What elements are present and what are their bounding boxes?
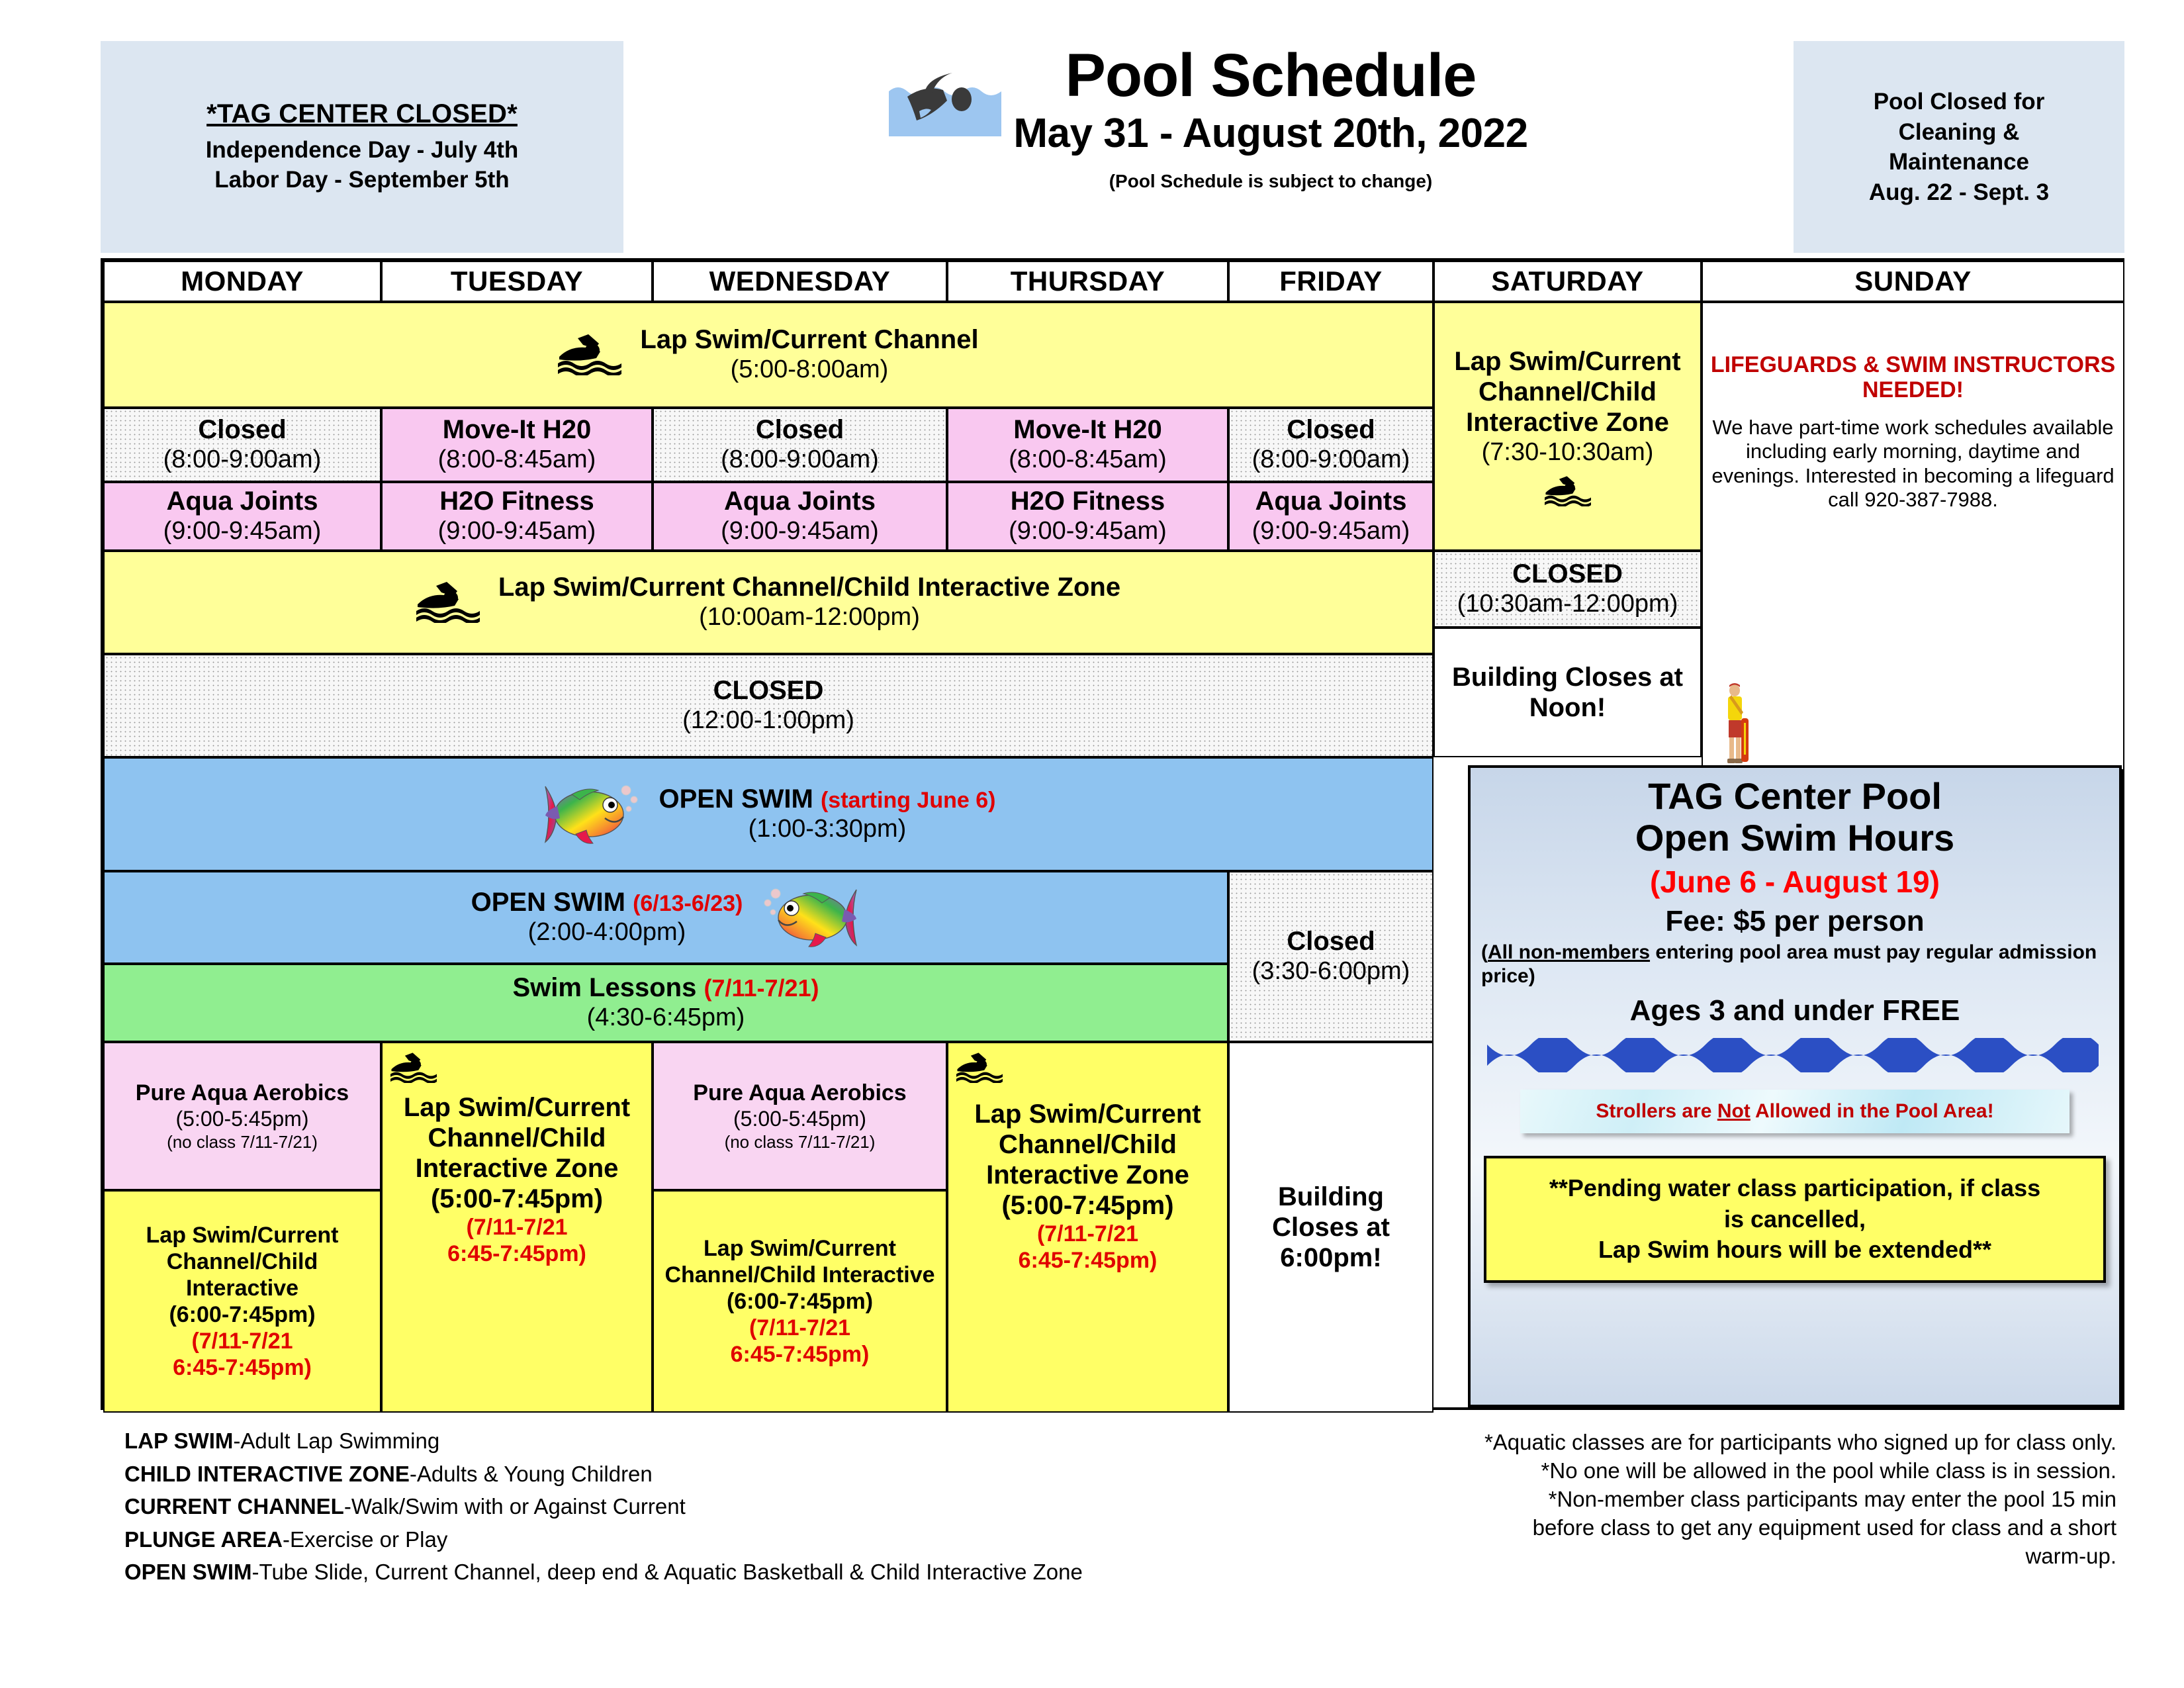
slot-mon-8am-time: (8:00-9:00am): [163, 445, 322, 475]
slot-open-swim-2: OPEN SWIM (6/13-6/23) (2:00-4:00pm): [103, 871, 1228, 964]
slot-open-swim-1-titlewrap: OPEN SWIM (starting June 6): [659, 784, 996, 814]
maintenance-line-1: Pool Closed for: [1874, 87, 2045, 117]
slot-sat-closed-time: (10:30am-12:00pm): [1457, 589, 1678, 620]
slot-mon-evening-aerobics-title: Pure Aqua Aerobics: [136, 1080, 349, 1106]
legend-term: LAP SWIM: [124, 1429, 233, 1453]
pending-line-3: Lap Swim hours will be extended**: [1496, 1235, 2094, 1266]
slot-wed-9am: Aqua Joints (9:00-9:45am): [653, 482, 947, 551]
stroller-notice-text: Strollers are Not Allowed in the Pool Ar…: [1596, 1100, 1993, 1122]
legend-desc: -Walk/Swim with or Against Current: [344, 1494, 686, 1519]
pending-water-class-notice: **Pending water class participation, if …: [1484, 1156, 2106, 1283]
slot-closed-noon: CLOSED (12:00-1:00pm): [103, 654, 1433, 757]
wave-divider-icon: [1487, 1038, 2103, 1072]
slot-lap-swim-early-time: (5:00-8:00am): [640, 355, 978, 385]
legend-definitions: LAP SWIM-Adult Lap Swimming CHILD INTERA…: [124, 1425, 1382, 1589]
slot-lap-swim-mid-time: (10:00am-12:00pm): [498, 602, 1120, 633]
slot-sat-building-closes: Building Closes at Noon!: [1433, 628, 1702, 757]
slot-thu-9am-time: (9:00-9:45am): [1009, 516, 1167, 547]
lifeguards-needed-heading: LIFEGUARDS & SWIM INSTRUCTORS NEEDED!: [1706, 352, 2120, 402]
day-header-monday: MONDAY: [103, 261, 381, 302]
slot-mon-8am: Closed (8:00-9:00am): [103, 408, 381, 482]
lifeguards-needed-body: We have part-time work schedules availab…: [1706, 416, 2120, 512]
slot-fri-9am-title: Aqua Joints: [1255, 486, 1407, 516]
slot-tue-9am-title: H2O Fitness: [439, 486, 594, 516]
slot-mon-evening-lapswim-alttime: 6:45-7:45pm): [173, 1354, 312, 1381]
slot-sat-morning-time: (7:30-10:30am): [1482, 438, 1654, 468]
day-header-thursday: THURSDAY: [947, 261, 1228, 302]
slot-open-swim-1-title: OPEN SWIM: [659, 784, 813, 814]
slot-thu-8am-time: (8:00-8:45am): [1009, 445, 1167, 475]
slot-tue-9am: H2O Fitness (9:00-9:45am): [381, 482, 653, 551]
slot-wed-9am-time: (9:00-9:45am): [721, 516, 879, 547]
day-header-tuesday: TUESDAY: [381, 261, 653, 302]
swimmer-icon: [956, 1053, 1003, 1083]
slot-fri-9am-time: (9:00-9:45am): [1252, 516, 1410, 547]
slot-open-swim-2-title: OPEN SWIM: [471, 888, 625, 917]
slot-sunday-lifeguard-notice: LIFEGUARDS & SWIM INSTRUCTORS NEEDED! We…: [1702, 302, 2124, 771]
slot-open-swim-2-time: (2:00-4:00pm): [471, 917, 743, 948]
page-header: *TAG CENTER CLOSED* Independence Day - J…: [101, 41, 2124, 253]
slot-fri-8am-time: (8:00-9:00am): [1252, 445, 1410, 475]
slot-sat-morning: Lap Swim/Current Channel/Child Interacti…: [1433, 302, 1702, 551]
slot-closed-noon-time: (12:00-1:00pm): [682, 706, 854, 736]
slot-open-swim-1: OPEN SWIM (starting June 6) (1:00-3:30pm…: [103, 757, 1433, 871]
swimmer-icon: [416, 582, 480, 623]
page-subtitle-dates: May 31 - August 20th, 2022: [1013, 106, 1527, 162]
slot-fri-8am: Closed (8:00-9:00am): [1228, 408, 1433, 482]
tag-center-pool-info-panel: TAG Center Pool Open Swim Hours (June 6 …: [1468, 765, 2122, 1407]
fish-icon: [761, 880, 860, 955]
swimmer-icon: [558, 334, 621, 375]
legend-desc: -Exercise or Play: [283, 1527, 447, 1552]
slot-wed-evening-aerobics-time: (5:00-5:45pm): [733, 1106, 866, 1131]
policy-note: *Aquatic classes are for participants wh…: [1302, 1429, 2116, 1457]
slot-wed-evening-aerobics-note: (no class 7/11-7/21): [725, 1132, 876, 1152]
slot-wed-evening-lapswim-title: Lap Swim/Current Channel/Child Interacti…: [657, 1235, 943, 1288]
slot-swim-lessons-dates: (7/11-7/21): [704, 974, 819, 1002]
tag-panel-fee: Fee: $5 per person: [1665, 905, 1924, 938]
day-header-wednesday: WEDNESDAY: [653, 261, 947, 302]
slot-swim-lessons: Swim Lessons (7/11-7/21) (4:30-6:45pm): [103, 964, 1228, 1042]
subject-to-change-note: (Pool Schedule is subject to change): [1013, 171, 1527, 192]
slot-tue-evening-lapswim: Lap Swim/Current Channel/Child Interacti…: [381, 1042, 653, 1413]
slot-lap-swim-early: Lap Swim/Current Channel (5:00-8:00am): [103, 302, 1433, 408]
slot-mon-8am-title: Closed: [198, 414, 286, 445]
slot-thu-evening-lapswim-title: Lap Swim/Current Channel/Child Interacti…: [951, 1099, 1224, 1190]
slot-sat-building-closes-title: Building Closes at Noon!: [1437, 662, 1698, 723]
slot-tue-evening-lapswim-altdates: (7/11-7/21: [466, 1214, 567, 1241]
legend-term: CHILD INTERACTIVE ZONE: [124, 1462, 410, 1486]
slot-lap-swim-early-title: Lap Swim/Current Channel: [640, 324, 978, 355]
slot-fri-closed-title: Closed: [1287, 926, 1375, 957]
holiday-independence-day: Independence Day - July 4th: [206, 136, 519, 165]
slot-tue-9am-time: (9:00-9:45am): [438, 516, 596, 547]
slot-swim-lessons-time: (4:30-6:45pm): [587, 1003, 745, 1033]
slot-wed-8am: Closed (8:00-9:00am): [653, 408, 947, 482]
slot-wed-evening-aerobics-title: Pure Aqua Aerobics: [693, 1080, 906, 1106]
day-header-sunday: SUNDAY: [1702, 261, 2124, 302]
slot-wed-8am-time: (8:00-9:00am): [721, 445, 879, 475]
tag-center-closed-box: *TAG CENTER CLOSED* Independence Day - J…: [101, 41, 623, 253]
legend-desc: -Adults & Young Children: [410, 1462, 653, 1486]
slot-thu-evening-lapswim-alttime: 6:45-7:45pm): [1019, 1247, 1158, 1274]
policy-note: before class to get any equipment used f…: [1302, 1514, 2116, 1542]
stroller-notice: Strollers are Not Allowed in the Pool Ar…: [1520, 1090, 2070, 1133]
tag-panel-heading-1: TAG Center Pool: [1648, 776, 1942, 818]
swimmer-icon: [390, 1053, 437, 1083]
slot-closed-noon-title: CLOSED: [713, 675, 824, 706]
slot-thu-8am-title: Move-It H20: [1013, 414, 1162, 445]
swimmer-diving-icon: [889, 62, 1001, 136]
maintenance-line-2: Cleaning &: [1899, 117, 2020, 148]
slot-fri-closed-time: (3:30-6:00pm): [1252, 957, 1410, 987]
slot-tue-8am-title: Move-It H20: [443, 414, 592, 445]
class-policy-notes: *Aquatic classes are for participants wh…: [1302, 1429, 2116, 1570]
slot-mon-evening-lapswim-title: Lap Swim/Current Channel/Child Interacti…: [107, 1222, 377, 1301]
slot-tue-evening-lapswim-time: (5:00-7:45pm): [431, 1184, 603, 1214]
slot-mon-9am-title: Aqua Joints: [167, 486, 318, 516]
slot-tue-8am-time: (8:00-8:45am): [438, 445, 596, 475]
policy-note: warm-up.: [1302, 1542, 2116, 1571]
slot-open-swim-2-dates: (6/13-6/23): [633, 891, 743, 916]
legend-item: OPEN SWIM-Tube Slide, Current Channel, d…: [124, 1556, 1382, 1589]
slot-wed-8am-title: Closed: [756, 414, 844, 445]
slot-mon-evening-lapswim-altdates: (7/11-7/21: [191, 1328, 293, 1354]
tag-panel-fee-note: (All non-members entering pool area must…: [1481, 941, 2109, 989]
slot-mon-evening-aerobics-note: (no class 7/11-7/21): [167, 1132, 318, 1152]
legend-desc: -Adult Lap Swimming: [233, 1429, 439, 1453]
slot-fri-9am: Aqua Joints (9:00-9:45am): [1228, 482, 1433, 551]
legend-term: CURRENT CHANNEL: [124, 1494, 344, 1519]
policy-note: *Non-member class participants may enter…: [1302, 1485, 2116, 1514]
day-header-saturday: SATURDAY: [1433, 261, 1702, 302]
slot-thu-8am: Move-It H20 (8:00-8:45am): [947, 408, 1228, 482]
stroller-not: Not: [1717, 1100, 1751, 1122]
slot-lap-swim-mid-title: Lap Swim/Current Channel/Child Interacti…: [498, 572, 1120, 602]
slot-sat-morning-title: Lap Swim/Current Channel/Child Interacti…: [1437, 346, 1698, 438]
maintenance-line-3: Maintenance: [1889, 147, 2029, 177]
pool-closed-maintenance-box: Pool Closed for Cleaning & Maintenance A…: [1794, 41, 2124, 253]
day-header-friday: FRIDAY: [1228, 261, 1433, 302]
fee-note-open-paren: (: [1481, 941, 1488, 963]
slot-mon-evening-lapswim: Lap Swim/Current Channel/Child Interacti…: [103, 1190, 381, 1413]
legend-item: LAP SWIM-Adult Lap Swimming: [124, 1425, 1382, 1458]
legend-item: CURRENT CHANNEL-Walk/Swim with or Agains…: [124, 1490, 1382, 1523]
slot-swim-lessons-title: Swim Lessons: [512, 973, 696, 1002]
policy-note: *No one will be allowed in the pool whil…: [1302, 1457, 2116, 1485]
pending-line-2: is cancelled,: [1496, 1204, 2094, 1235]
legend-item: PLUNGE AREA-Exercise or Play: [124, 1523, 1382, 1556]
legend-term: PLUNGE AREA: [124, 1527, 283, 1552]
swimmer-icon: [1545, 476, 1591, 506]
tag-panel-heading-2: Open Swim Hours: [1635, 818, 1954, 859]
slot-wed-evening-lapswim-time: (6:00-7:45pm): [727, 1288, 873, 1315]
fish-icon: [541, 777, 641, 851]
slot-wed-evening-lapswim-altdates: (7/11-7/21: [749, 1315, 850, 1341]
slot-open-swim-2-titlewrap: OPEN SWIM (6/13-6/23): [471, 887, 743, 917]
slot-wed-evening-lapswim: Lap Swim/Current Channel/Child Interacti…: [653, 1190, 947, 1413]
slot-tue-8am: Move-It H20 (8:00-8:45am): [381, 408, 653, 482]
slot-fri-building-closes-title: Building Closes at 6:00pm!: [1232, 1182, 1430, 1273]
slot-fri-8am-title: Closed: [1287, 414, 1375, 445]
lifeguard-photo: [1720, 682, 1757, 767]
slot-thu-evening-lapswim-time: (5:00-7:45pm): [1001, 1190, 1173, 1221]
slot-tue-evening-lapswim-alttime: 6:45-7:45pm): [447, 1241, 586, 1267]
holiday-labor-day: Labor Day - September 5th: [214, 165, 509, 195]
slot-swim-lessons-titlewrap: Swim Lessons (7/11-7/21): [512, 972, 819, 1003]
slot-sat-closed: CLOSED (10:30am-12:00pm): [1433, 551, 1702, 628]
slot-thu-evening-lapswim-altdates: (7/11-7/21: [1037, 1221, 1138, 1247]
maintenance-line-4: Aug. 22 - Sept. 3: [1869, 177, 2049, 208]
slot-open-swim-1-time: (1:00-3:30pm): [659, 814, 996, 845]
slot-lap-swim-mid: Lap Swim/Current Channel/Child Interacti…: [103, 551, 1433, 654]
slot-thu-9am: H2O Fitness (9:00-9:45am): [947, 482, 1228, 551]
title-area: Pool Schedule May 31 - August 20th, 2022…: [623, 41, 1794, 253]
slot-mon-evening-aerobics: Pure Aqua Aerobics (5:00-5:45pm) (no cla…: [103, 1042, 381, 1190]
legend-desc: -Tube Slide, Current Channel, deep end &…: [252, 1560, 1083, 1584]
slot-tue-evening-lapswim-title: Lap Swim/Current Channel/Child Interacti…: [385, 1092, 649, 1184]
slot-open-swim-1-dates: (starting June 6): [821, 788, 995, 813]
slot-thu-9am-title: H2O Fitness: [1011, 486, 1165, 516]
slot-mon-9am: Aqua Joints (9:00-9:45am): [103, 482, 381, 551]
slot-wed-9am-title: Aqua Joints: [724, 486, 876, 516]
page-title: Pool Schedule: [1013, 45, 1527, 106]
legend-item: CHILD INTERACTIVE ZONE-Adults & Young Ch…: [124, 1458, 1382, 1491]
slot-wed-evening-lapswim-alttime: 6:45-7:45pm): [731, 1341, 870, 1368]
stroller-pre: Strollers are: [1596, 1100, 1717, 1122]
slot-mon-evening-lapswim-time: (6:00-7:45pm): [169, 1301, 315, 1328]
slot-wed-evening-aerobics: Pure Aqua Aerobics (5:00-5:45pm) (no cla…: [653, 1042, 947, 1190]
tag-panel-dates: (June 6 - August 19): [1650, 864, 1940, 900]
slot-sat-closed-title: CLOSED: [1512, 559, 1623, 589]
tag-panel-free-ages: Ages 3 and under FREE: [1630, 994, 1960, 1027]
slot-fri-closed: Closed (3:30-6:00pm): [1228, 871, 1433, 1042]
fee-note-nonmembers: All non-members: [1488, 941, 1650, 963]
legend-term: OPEN SWIM: [124, 1560, 252, 1584]
slot-thu-evening-lapswim: Lap Swim/Current Channel/Child Interacti…: [947, 1042, 1228, 1413]
tag-center-closed-title: *TAG CENTER CLOSED*: [206, 99, 518, 129]
stroller-post: Allowed in the Pool Area!: [1751, 1100, 1994, 1122]
slot-mon-evening-aerobics-time: (5:00-5:45pm): [176, 1106, 309, 1131]
pool-schedule-page: *TAG CENTER CLOSED* Independence Day - J…: [0, 0, 2184, 1688]
slot-fri-building-closes: Building Closes at 6:00pm!: [1228, 1042, 1433, 1413]
pending-line-1: **Pending water class participation, if …: [1496, 1173, 2094, 1204]
slot-mon-9am-time: (9:00-9:45am): [163, 516, 322, 547]
